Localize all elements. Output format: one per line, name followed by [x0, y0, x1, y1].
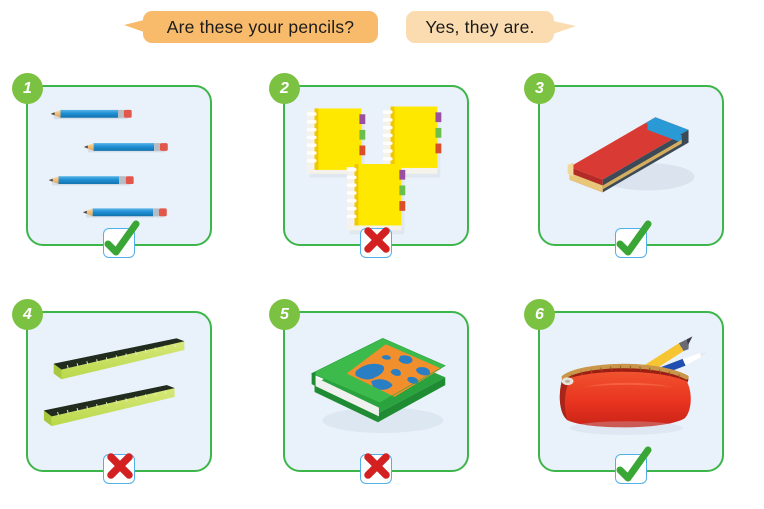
check-icon	[610, 444, 654, 488]
answer-marker-check[interactable]	[615, 228, 647, 258]
panel-6-pencil-case[interactable]: 6	[538, 311, 724, 472]
dialogue-row: Are these your pencils? Yes, they are.	[0, 0, 764, 62]
answer-bubble: Yes, they are.	[406, 11, 554, 43]
answer-marker-cross[interactable]	[360, 228, 392, 258]
answer-text: Yes, they are.	[425, 17, 534, 38]
panel-2-notebooks[interactable]: 2	[283, 85, 469, 246]
answer-marker-check[interactable]	[615, 454, 647, 484]
panel-1-pencils[interactable]: 1	[26, 85, 212, 246]
question-bubble: Are these your pencils?	[143, 11, 378, 43]
cross-icon	[355, 444, 399, 488]
pencil	[83, 208, 167, 216]
ruler	[54, 338, 185, 379]
check-icon	[610, 218, 654, 262]
pencil	[51, 110, 132, 118]
answer-marker-cross[interactable]	[360, 454, 392, 484]
panel-5-atlas-book[interactable]: 5	[283, 311, 469, 472]
ruler	[44, 385, 175, 426]
cross-icon	[355, 218, 399, 262]
answer-marker-cross[interactable]	[103, 454, 135, 484]
pencil	[49, 176, 134, 184]
pencil	[84, 143, 168, 151]
check-icon	[98, 218, 142, 262]
answer-marker-check[interactable]	[103, 228, 135, 258]
panel-4-rulers[interactable]: 4	[26, 311, 212, 472]
cross-icon	[98, 444, 142, 488]
panel-3-eraser[interactable]: 3	[538, 85, 724, 246]
question-text: Are these your pencils?	[167, 17, 354, 38]
